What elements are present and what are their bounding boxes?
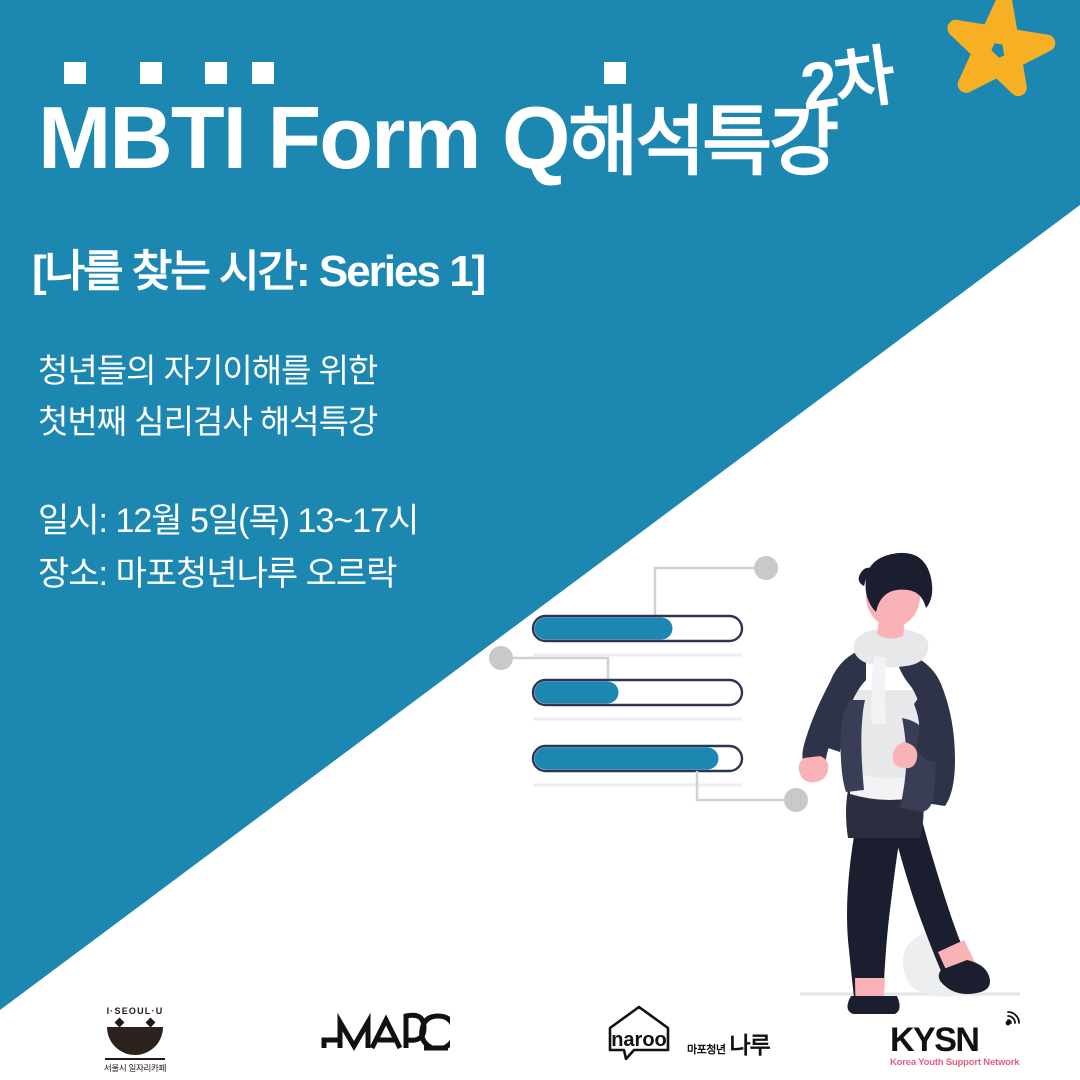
seoul-jobcafe-logo: I·SEOUL·U 서울시 일자리카페 <box>80 1006 190 1074</box>
seoul-logo-bowl-icon <box>107 1027 163 1055</box>
accent-square-icon-1 <box>64 62 86 84</box>
walking-person-illustration <box>799 553 990 1014</box>
round-badge: 2차 <box>794 22 898 130</box>
series-subtitle: [나를 찾는 시간: Series 1] <box>32 235 484 299</box>
description-line-1: 청년들의 자기이해를 위한 <box>38 345 377 396</box>
naroo-kr-big: 나루 <box>729 1026 769 1060</box>
event-place: 장소: 마포청년나루 오르락 <box>38 548 418 601</box>
event-details-block: 일시: 12월 5일(목) 13~17시 장소: 마포청년나루 오르락 <box>38 495 418 600</box>
marker-dot-1 <box>754 556 778 580</box>
antenna-signal-icon <box>993 1008 1023 1038</box>
kysn-logo: KYSN Korea Youth Support Network <box>890 1024 1019 1068</box>
event-date: 일시: 12월 5일(목) 13~17시 <box>38 495 418 548</box>
progress-bar-1 <box>533 616 742 655</box>
accent-square-icon-5 <box>604 62 626 84</box>
accent-square-icon-2 <box>140 62 162 84</box>
page-title: MBTI Form Q해석특강 <box>38 94 836 182</box>
seoul-logo-bottom-text: 서울시 일자리카페 <box>104 1062 166 1074</box>
progress-bar-3 <box>533 746 742 785</box>
seoul-logo-top-text: I·SEOUL·U <box>107 1006 164 1016</box>
title-korean: 해석특강 <box>568 100 836 185</box>
marker-dot-2 <box>489 646 513 670</box>
title-english: MBTI Form Q <box>38 88 568 187</box>
accent-square-icon-4 <box>252 62 274 84</box>
accent-square-icon-3 <box>205 62 227 84</box>
naroo-wordmark-text: naroo <box>611 1029 667 1051</box>
naroo-logo: naroo 마포청년 나루 <box>600 1002 770 1060</box>
footer-logo-bar: I·SEOUL·U 서울시 일자리카페 <box>0 970 1080 1080</box>
description-line-2: 첫번째 심리검사 해석특강 <box>38 396 377 447</box>
marker-dot-3 <box>784 788 808 812</box>
leader-line-3 <box>697 771 808 812</box>
description-block: 청년들의 자기이해를 위한 첫번째 심리검사 해석특강 <box>38 345 377 447</box>
naroo-house-icon: naroo <box>600 1002 678 1060</box>
poster-canvas: 2차 MBTI Form Q해석특강 [나를 찾는 시간: Series 1] … <box>0 0 1080 1080</box>
mapo-logo <box>320 1002 450 1056</box>
naroo-kr-small: 마포청년 <box>687 1041 725 1057</box>
kysn-subtitle: Korea Youth Support Network <box>890 1057 1019 1068</box>
seoul-logo-rule <box>105 1058 165 1060</box>
mapo-wordmark-icon <box>320 1002 450 1056</box>
seoul-logo-eyes-icon <box>116 1019 154 1026</box>
progress-bar-2 <box>533 680 742 719</box>
